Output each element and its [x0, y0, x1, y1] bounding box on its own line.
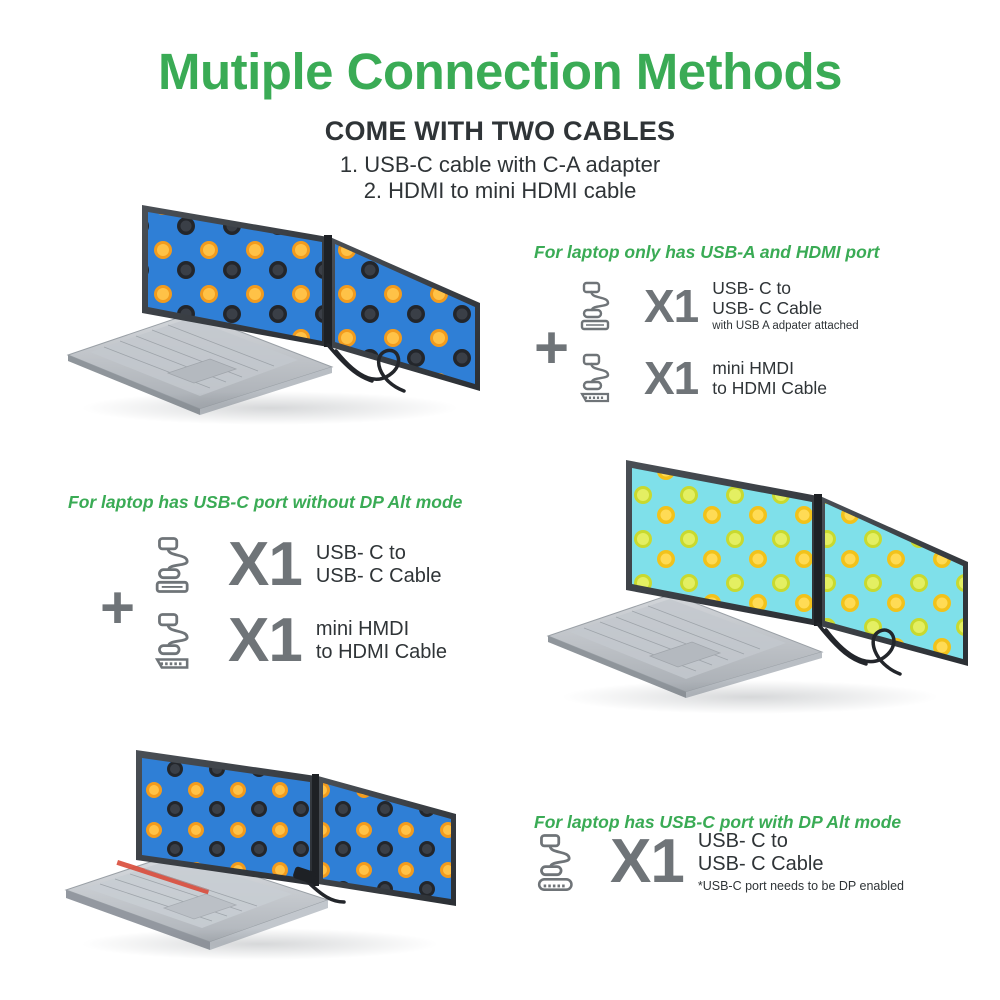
section-2-cable-1-qty: X1 — [228, 534, 302, 596]
cable-label-line2: to HDMI Cable — [316, 641, 447, 664]
section-3-cable-1-qty: X1 — [610, 831, 684, 893]
laptop-illustration-1 — [60, 195, 480, 435]
cable-label-line2: USB- C Cable — [712, 298, 858, 318]
section-1-cable-1-text: USB- C to USB- C Cable with USB A adpate… — [712, 278, 858, 333]
section-3-cable-1: X1 USB- C to USB- C Cable *USB-C port ne… — [534, 830, 904, 893]
hdmi-cable-icon — [578, 352, 636, 404]
section-1-cable-2-text: mini HMDI to HDMI Cable — [712, 358, 827, 398]
cable-label-line1: USB- C to — [316, 542, 442, 565]
cable-label-line2: to HDMI Cable — [712, 378, 827, 398]
section-2-cable-1-text: USB- C to USB- C Cable — [316, 542, 442, 588]
cable-label-line1: USB- C to — [712, 278, 858, 298]
usb-c-cable-icon — [152, 535, 220, 595]
poster-root: Mutiple Connection Methods COME WITH TWO… — [0, 0, 1000, 1000]
page-title: Mutiple Connection Methods — [0, 42, 1000, 101]
section-1-plus-icon: + — [534, 318, 569, 378]
section-2-cable-2-text: mini HMDI to HDMI Cable — [316, 618, 447, 664]
cable-label-line2: USB- C Cable — [698, 853, 904, 876]
hdmi-cable-icon — [152, 611, 220, 671]
page-subtitle: COME WITH TWO CABLES — [0, 116, 1000, 147]
section-1-caption: For laptop only has USB-A and HDMI port — [534, 242, 879, 263]
cable-list-item-1: 1. USB-C cable with C-A adapter — [0, 152, 1000, 178]
section-2-caption: For laptop has USB-C port without DP Alt… — [68, 492, 462, 513]
cable-label-line1: USB- C to — [698, 830, 904, 853]
section-1-cable-1: X1 USB- C to USB- C Cable with USB A adp… — [578, 278, 859, 333]
usb-c-cable-icon — [578, 280, 636, 332]
laptop-illustration-2 — [540, 440, 970, 730]
cable-label-line1: mini HMDI — [712, 358, 827, 378]
cable-note: *USB-C port needs to be DP enabled — [698, 879, 904, 893]
cable-label-line2: USB- C Cable — [316, 565, 442, 588]
section-1-cable-2-qty: X1 — [644, 355, 698, 401]
section-3-cable-1-text: USB- C to USB- C Cable *USB-C port needs… — [698, 830, 904, 893]
cable-note: with USB A adpater attached — [712, 320, 858, 333]
cable-label-line1: mini HMDI — [316, 618, 447, 641]
section-2-cable-2-qty: X1 — [228, 610, 302, 672]
section-2-plus-icon: + — [100, 578, 135, 638]
section-1-cable-1-qty: X1 — [644, 283, 698, 329]
section-2-cable-2: X1 mini HMDI to HDMI Cable — [152, 610, 447, 672]
section-1-cable-2: X1 mini HMDI to HDMI Cable — [578, 352, 827, 404]
laptop-illustration-3 — [60, 740, 460, 970]
section-2-cable-1: X1 USB- C to USB- C Cable — [152, 534, 441, 596]
usb-c-cable-icon — [534, 832, 602, 892]
